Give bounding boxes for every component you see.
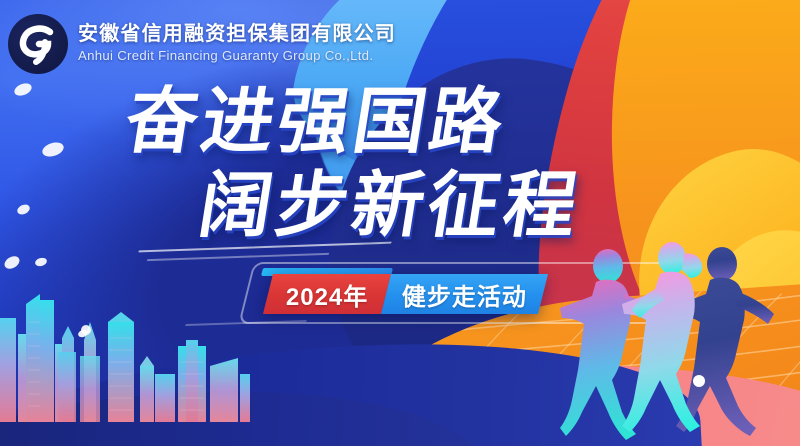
subtitle-ribbon: 2024年 健步走活动 bbox=[263, 274, 548, 314]
subtitle-year-block: 2024年 bbox=[263, 274, 391, 314]
company-name-cn: 安徽省信用融资担保集团有限公司 bbox=[78, 23, 396, 46]
logo-mark-icon bbox=[8, 14, 68, 74]
company-logo: 安徽省信用融资担保集团有限公司 Anhui Credit Financing G… bbox=[8, 14, 396, 74]
subtitle-event-block: 健步走活动 bbox=[381, 274, 548, 314]
subtitle-year: 2024年 bbox=[286, 277, 368, 312]
headline: 奋进强国路 阔步新征程 bbox=[0, 86, 700, 242]
subtitle-event: 健步走活动 bbox=[402, 277, 527, 312]
runner-silhouettes bbox=[560, 236, 800, 446]
headline-line-1: 奋进强国路 bbox=[120, 86, 705, 158]
city-skyline bbox=[0, 282, 250, 422]
promotional-banner: 安徽省信用融资担保集团有限公司 Anhui Credit Financing G… bbox=[0, 0, 800, 446]
headline-line-2: 阔步新征程 bbox=[194, 170, 705, 242]
company-name-en: Anhui Credit Financing Guaranty Group Co… bbox=[78, 46, 396, 66]
